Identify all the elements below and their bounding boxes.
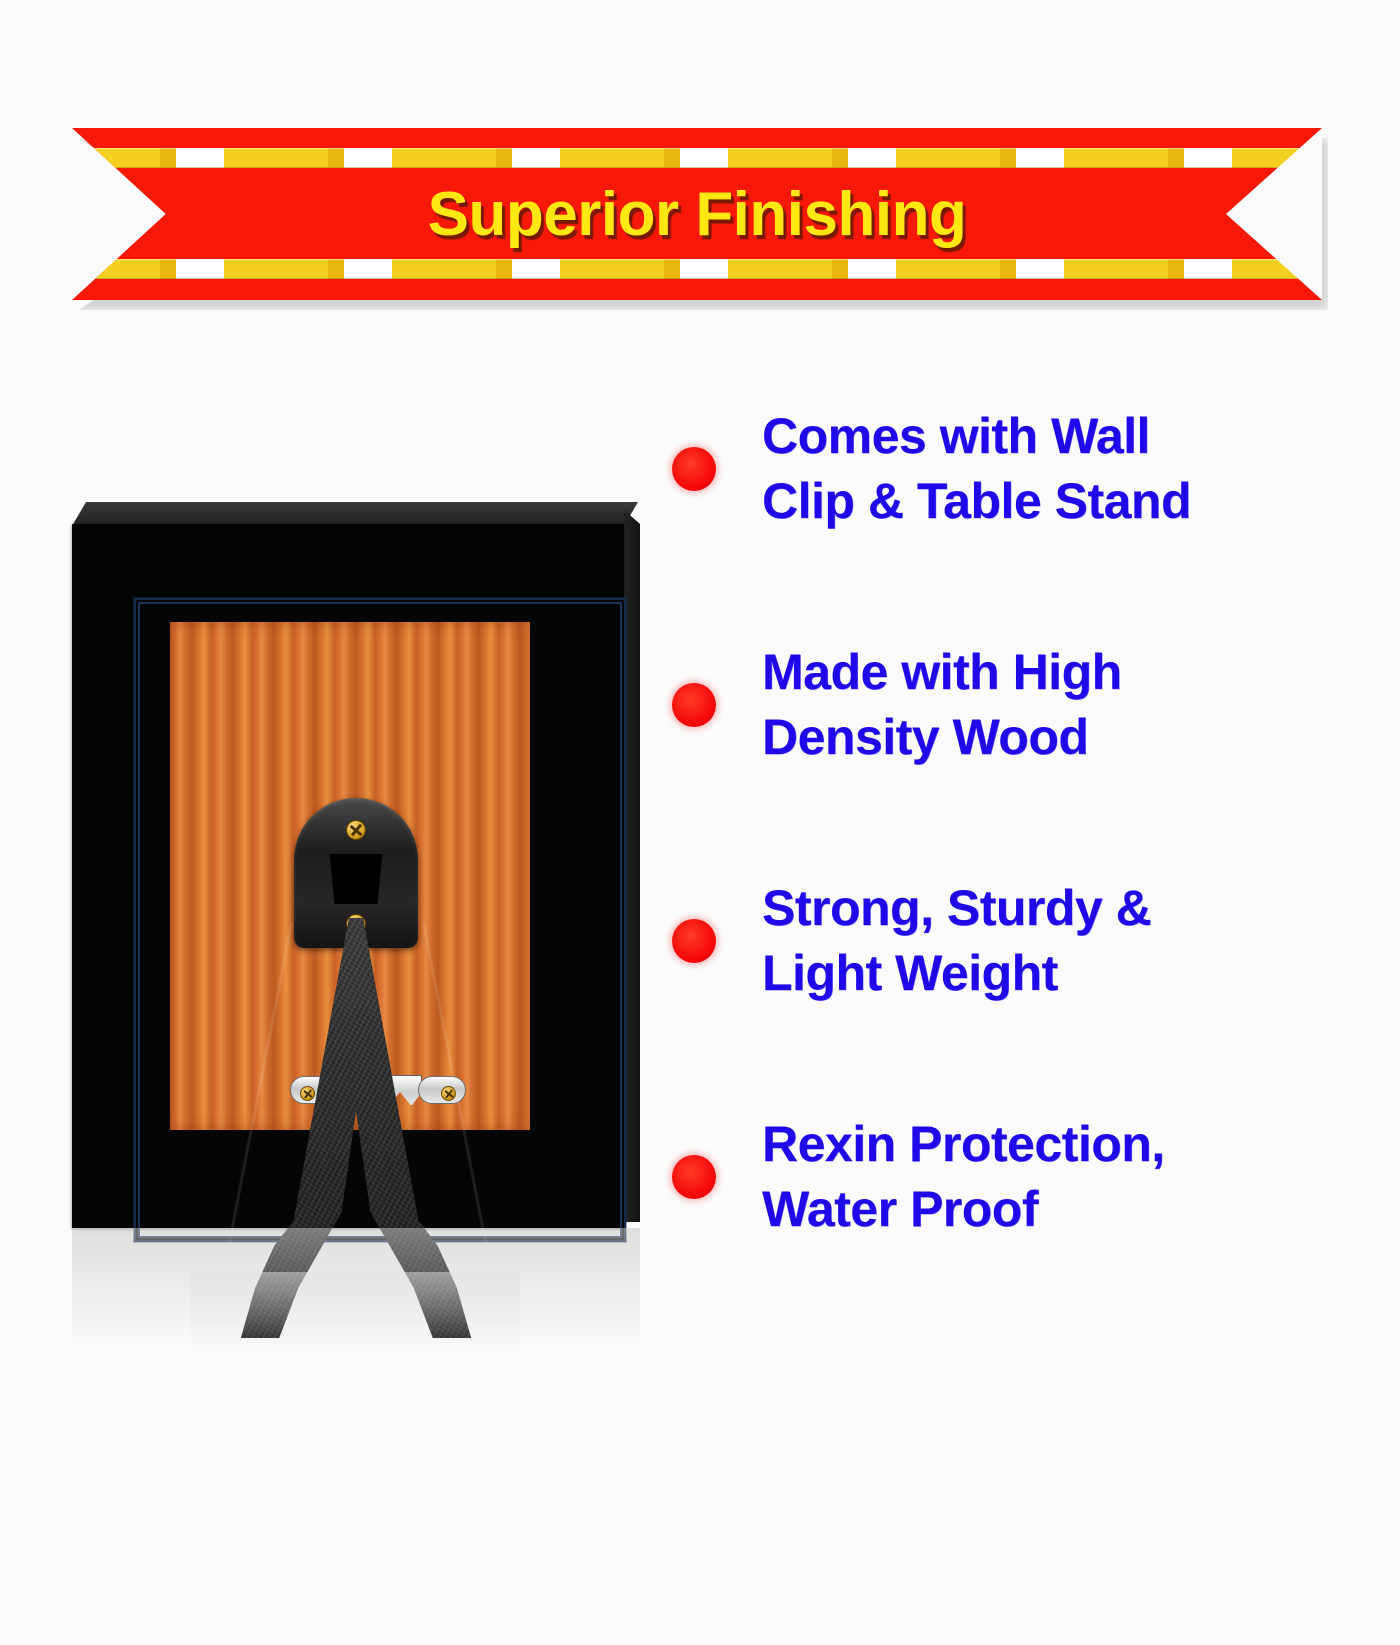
banner-gold-stripe-bottom [72,259,1322,279]
feature-text-line2: Clip & Table Stand [762,469,1191,534]
frame-top-bevel [72,502,638,526]
feature-text-line1: Strong, Sturdy & [762,876,1151,941]
product-reflection-inner [190,1272,520,1352]
feature-text: Made with High Density Wood [762,640,1122,770]
feature-item-strong-sturdy-light: Strong, Sturdy & Light Weight [672,876,1372,1006]
feature-item-wall-clip-table-stand: Comes with Wall Clip & Table Stand [672,404,1372,534]
bullet-icon [672,683,716,727]
feature-item-rexin-water-proof: Rexin Protection, Water Proof [672,1112,1372,1242]
superior-finishing-banner: Superior Finishing [72,128,1322,306]
product-photo [40,480,660,1380]
banner-gold-stripe-top [72,148,1322,168]
banner-red-ribbon [72,128,1322,300]
feature-list: Comes with Wall Clip & Table Stand Made … [672,404,1372,1348]
feature-text-line1: Rexin Protection, [762,1112,1165,1177]
feature-text-line1: Comes with Wall [762,404,1191,469]
screw-icon [346,820,366,840]
feature-text: Rexin Protection, Water Proof [762,1112,1165,1242]
bullet-icon [672,447,716,491]
bullet-icon [672,1155,716,1199]
feature-item-high-density-wood: Made with High Density Wood [672,640,1372,770]
feature-text-line2: Density Wood [762,705,1122,770]
feature-text: Comes with Wall Clip & Table Stand [762,404,1191,534]
frame-right-depth-face [624,510,640,1222]
stand-head-slot [326,854,386,904]
bullet-icon [672,919,716,963]
feature-text: Strong, Sturdy & Light Weight [762,876,1151,1006]
feature-text-line2: Water Proof [762,1177,1165,1242]
feature-text-line2: Light Weight [762,941,1151,1006]
feature-text-line1: Made with High [762,640,1122,705]
